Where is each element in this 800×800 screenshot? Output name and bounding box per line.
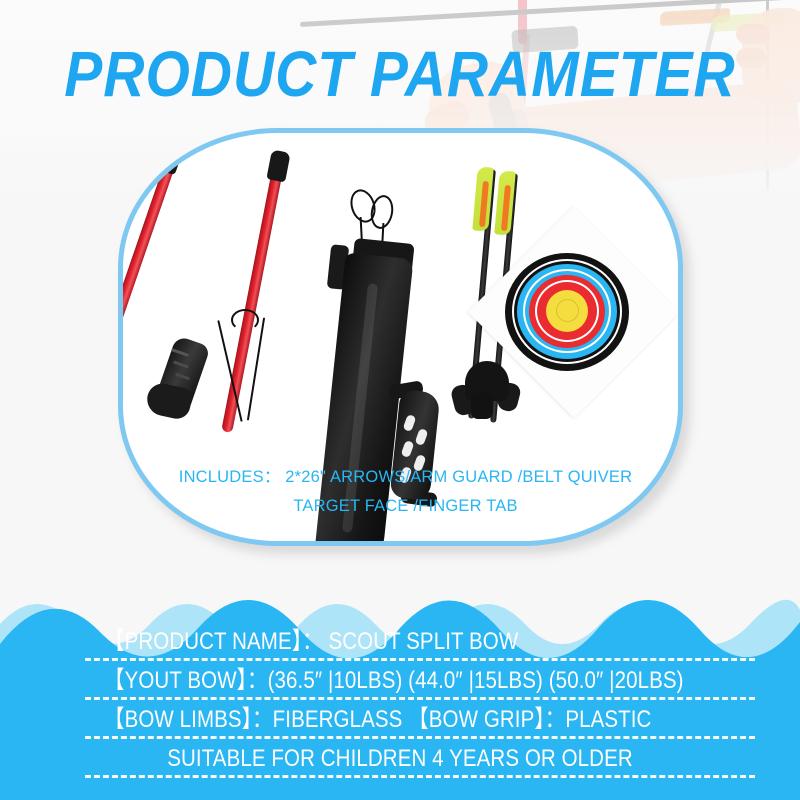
includes-line-2: TARGET FACE /FINGER TAB	[123, 492, 683, 521]
spec-value: FIBERGLASS 【BOW GRIP】：PLASTIC	[273, 706, 652, 733]
spec-divider-4	[85, 775, 755, 778]
spec-row-product-name: 【PRODUCT NAME】： SCOUT SPLIT BOW	[0, 622, 800, 661]
spec-row-text: SUITABLE FOR CHILDREN 4 YEARS OR OLDER	[0, 739, 800, 779]
spec-value: (36.5″ |10LBS) (44.0″ |15LBS) (50.0″ |20…	[268, 667, 684, 694]
spec-label: 【YOUT BOW】	[104, 667, 247, 694]
includes-line-1: INCLUDES： 2*26" ARROWS/ARM GUARD /BELT Q…	[179, 468, 632, 486]
page-title: PRODUCT PARAMETER	[0, 38, 800, 112]
product-photo-card: INCLUDES： 2*26" ARROWS/ARM GUARD /BELT Q…	[118, 128, 683, 546]
spec-label: 【PRODUCT NAME】	[104, 628, 302, 655]
limb-tip-secondary-icon	[266, 149, 290, 182]
product-parameter-infographic: PRODUCT PARAMETER	[0, 0, 800, 800]
spec-separator: ：	[252, 706, 273, 733]
specification-list: 【PRODUCT NAME】： SCOUT SPLIT BOW 【YOUT BO…	[0, 622, 800, 778]
spec-separator: ：	[302, 628, 323, 655]
spec-row-yout-bow: 【YOUT BOW】：(36.5″ |10LBS) (44.0″ |15LBS)…	[0, 661, 800, 700]
spec-separator: ：	[247, 667, 268, 694]
target-bullseye	[556, 299, 579, 322]
includes-caption: INCLUDES： 2*26" ARROWS/ARM GUARD /BELT Q…	[123, 463, 683, 521]
spec-row-age-note: SUITABLE FOR CHILDREN 4 YEARS OR OLDER	[0, 739, 800, 778]
spec-label: 【BOW LIMBS】	[104, 706, 252, 733]
spec-row-text: 【BOW LIMBS】：FIBERGLASS 【BOW GRIP】：PLASTI…	[0, 700, 800, 740]
spec-row-text: 【PRODUCT NAME】： SCOUT SPLIT BOW	[0, 622, 800, 662]
spec-value: SCOUT SPLIT BOW	[323, 628, 519, 655]
bowstring-loop-a	[231, 309, 259, 331]
spec-row-text: 【YOUT BOW】：(36.5″ |10LBS) (44.0″ |15LBS)…	[0, 661, 800, 701]
finger-tab-stem	[471, 393, 493, 419]
spec-row-bow-limbs: 【BOW LIMBS】：FIBERGLASS 【BOW GRIP】：PLASTI…	[0, 700, 800, 739]
